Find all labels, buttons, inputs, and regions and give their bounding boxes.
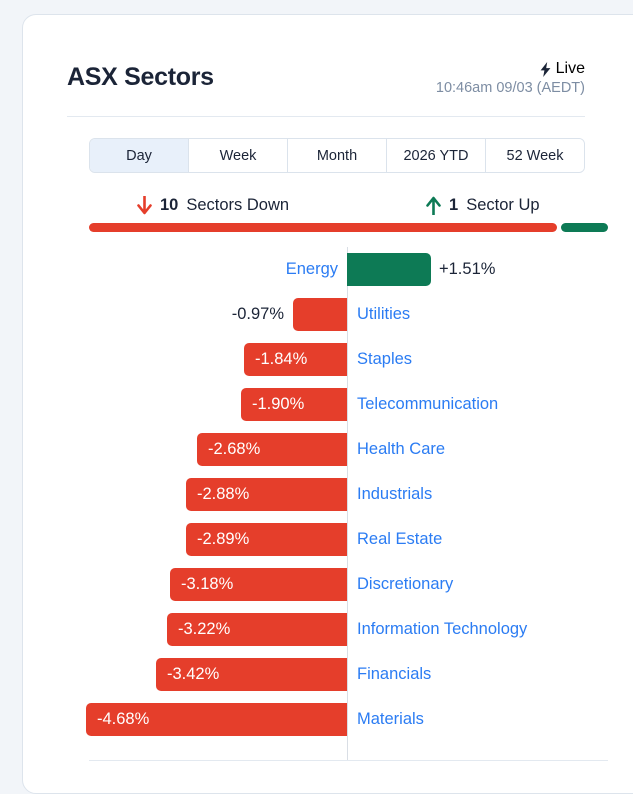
header-divider [67,116,585,117]
sector-value-label: -3.42% [156,658,347,691]
live-label: Live [556,60,585,78]
chart-row: -3.22%Information Technology [23,607,633,652]
summary-counts: 10 Sectors Down 1 Sector Up [89,191,608,219]
tab-day[interactable]: Day [90,139,189,172]
sector-link-information-technology[interactable]: Information Technology [357,613,527,646]
bottom-divider [89,760,608,761]
tab-2026-ytd[interactable]: 2026 YTD [387,139,486,172]
chart-row: -1.90%Telecommunication [23,382,633,427]
sector-link-utilities[interactable]: Utilities [357,298,410,331]
chart-row: -3.18%Discretionary [23,562,633,607]
summary-down-group: 10 Sectors Down [137,191,289,219]
sector-bar-chart: +1.51%Energy-0.97%Utilities-1.84%Staples… [23,247,633,760]
tab-52-week[interactable]: 52 Week [486,139,584,172]
sector-link-discretionary[interactable]: Discretionary [357,568,453,601]
asx-sectors-card: ASX Sectors Live 10:46am 09/03 (AEDT) Da… [22,14,633,794]
period-tabs[interactable]: DayWeekMonth2026 YTD52 Week [89,138,585,173]
sector-bar [347,253,431,286]
arrow-down-icon [137,196,152,215]
sector-link-telecommunication[interactable]: Telecommunication [357,388,498,421]
lightning-bolt-icon [540,62,551,77]
live-timestamp: 10:46am 09/03 (AEDT) [436,80,585,96]
sector-value-label: -2.89% [186,523,347,556]
sector-value-label: -2.68% [197,433,347,466]
sector-link-industrials[interactable]: Industrials [357,478,432,511]
up-count: 1 [449,196,458,215]
sector-value-label: -2.88% [186,478,347,511]
down-count: 10 [160,196,178,215]
live-status-block: Live 10:46am 09/03 (AEDT) [436,61,585,96]
arrow-up-icon [426,196,441,215]
summary-bar-up-segment [561,223,608,232]
sector-bar [293,298,347,331]
up-label: Sector Up [466,196,539,215]
sector-value-label: -3.18% [170,568,347,601]
sector-value-label: -3.22% [167,613,347,646]
sector-value-label: -4.68% [86,703,347,736]
sector-value-label: -1.84% [244,343,347,376]
sector-link-financials[interactable]: Financials [357,658,431,691]
sector-link-energy[interactable]: Energy [286,253,338,286]
chart-row: -0.97%Utilities [23,292,633,337]
chart-row: -4.68%Materials [23,697,633,742]
chart-row: -2.88%Industrials [23,472,633,517]
chart-row: -3.42%Financials [23,652,633,697]
chart-row: -1.84%Staples [23,337,633,382]
summary-bar-down-segment [89,223,557,232]
sector-value-label: -0.97% [23,298,293,331]
down-label: Sectors Down [186,196,289,215]
chart-row: -2.68%Health Care [23,427,633,472]
live-status-row: Live [436,61,585,77]
sector-value-label: -1.90% [241,388,347,421]
summary-up-group: 1 Sector Up [426,191,540,219]
chart-row: -2.89%Real Estate [23,517,633,562]
sector-link-real-estate[interactable]: Real Estate [357,523,442,556]
sector-link-health-care[interactable]: Health Care [357,433,445,466]
chart-row: +1.51%Energy [23,247,633,292]
sector-value-label: +1.51% [431,253,495,286]
sector-link-materials[interactable]: Materials [357,703,424,736]
page-title: ASX Sectors [67,63,214,92]
tab-week[interactable]: Week [189,139,288,172]
tab-month[interactable]: Month [288,139,387,172]
card-header: ASX Sectors Live 10:46am 09/03 (AEDT) [67,53,585,109]
summary-ratio-bar [89,223,608,232]
sector-link-staples[interactable]: Staples [357,343,412,376]
